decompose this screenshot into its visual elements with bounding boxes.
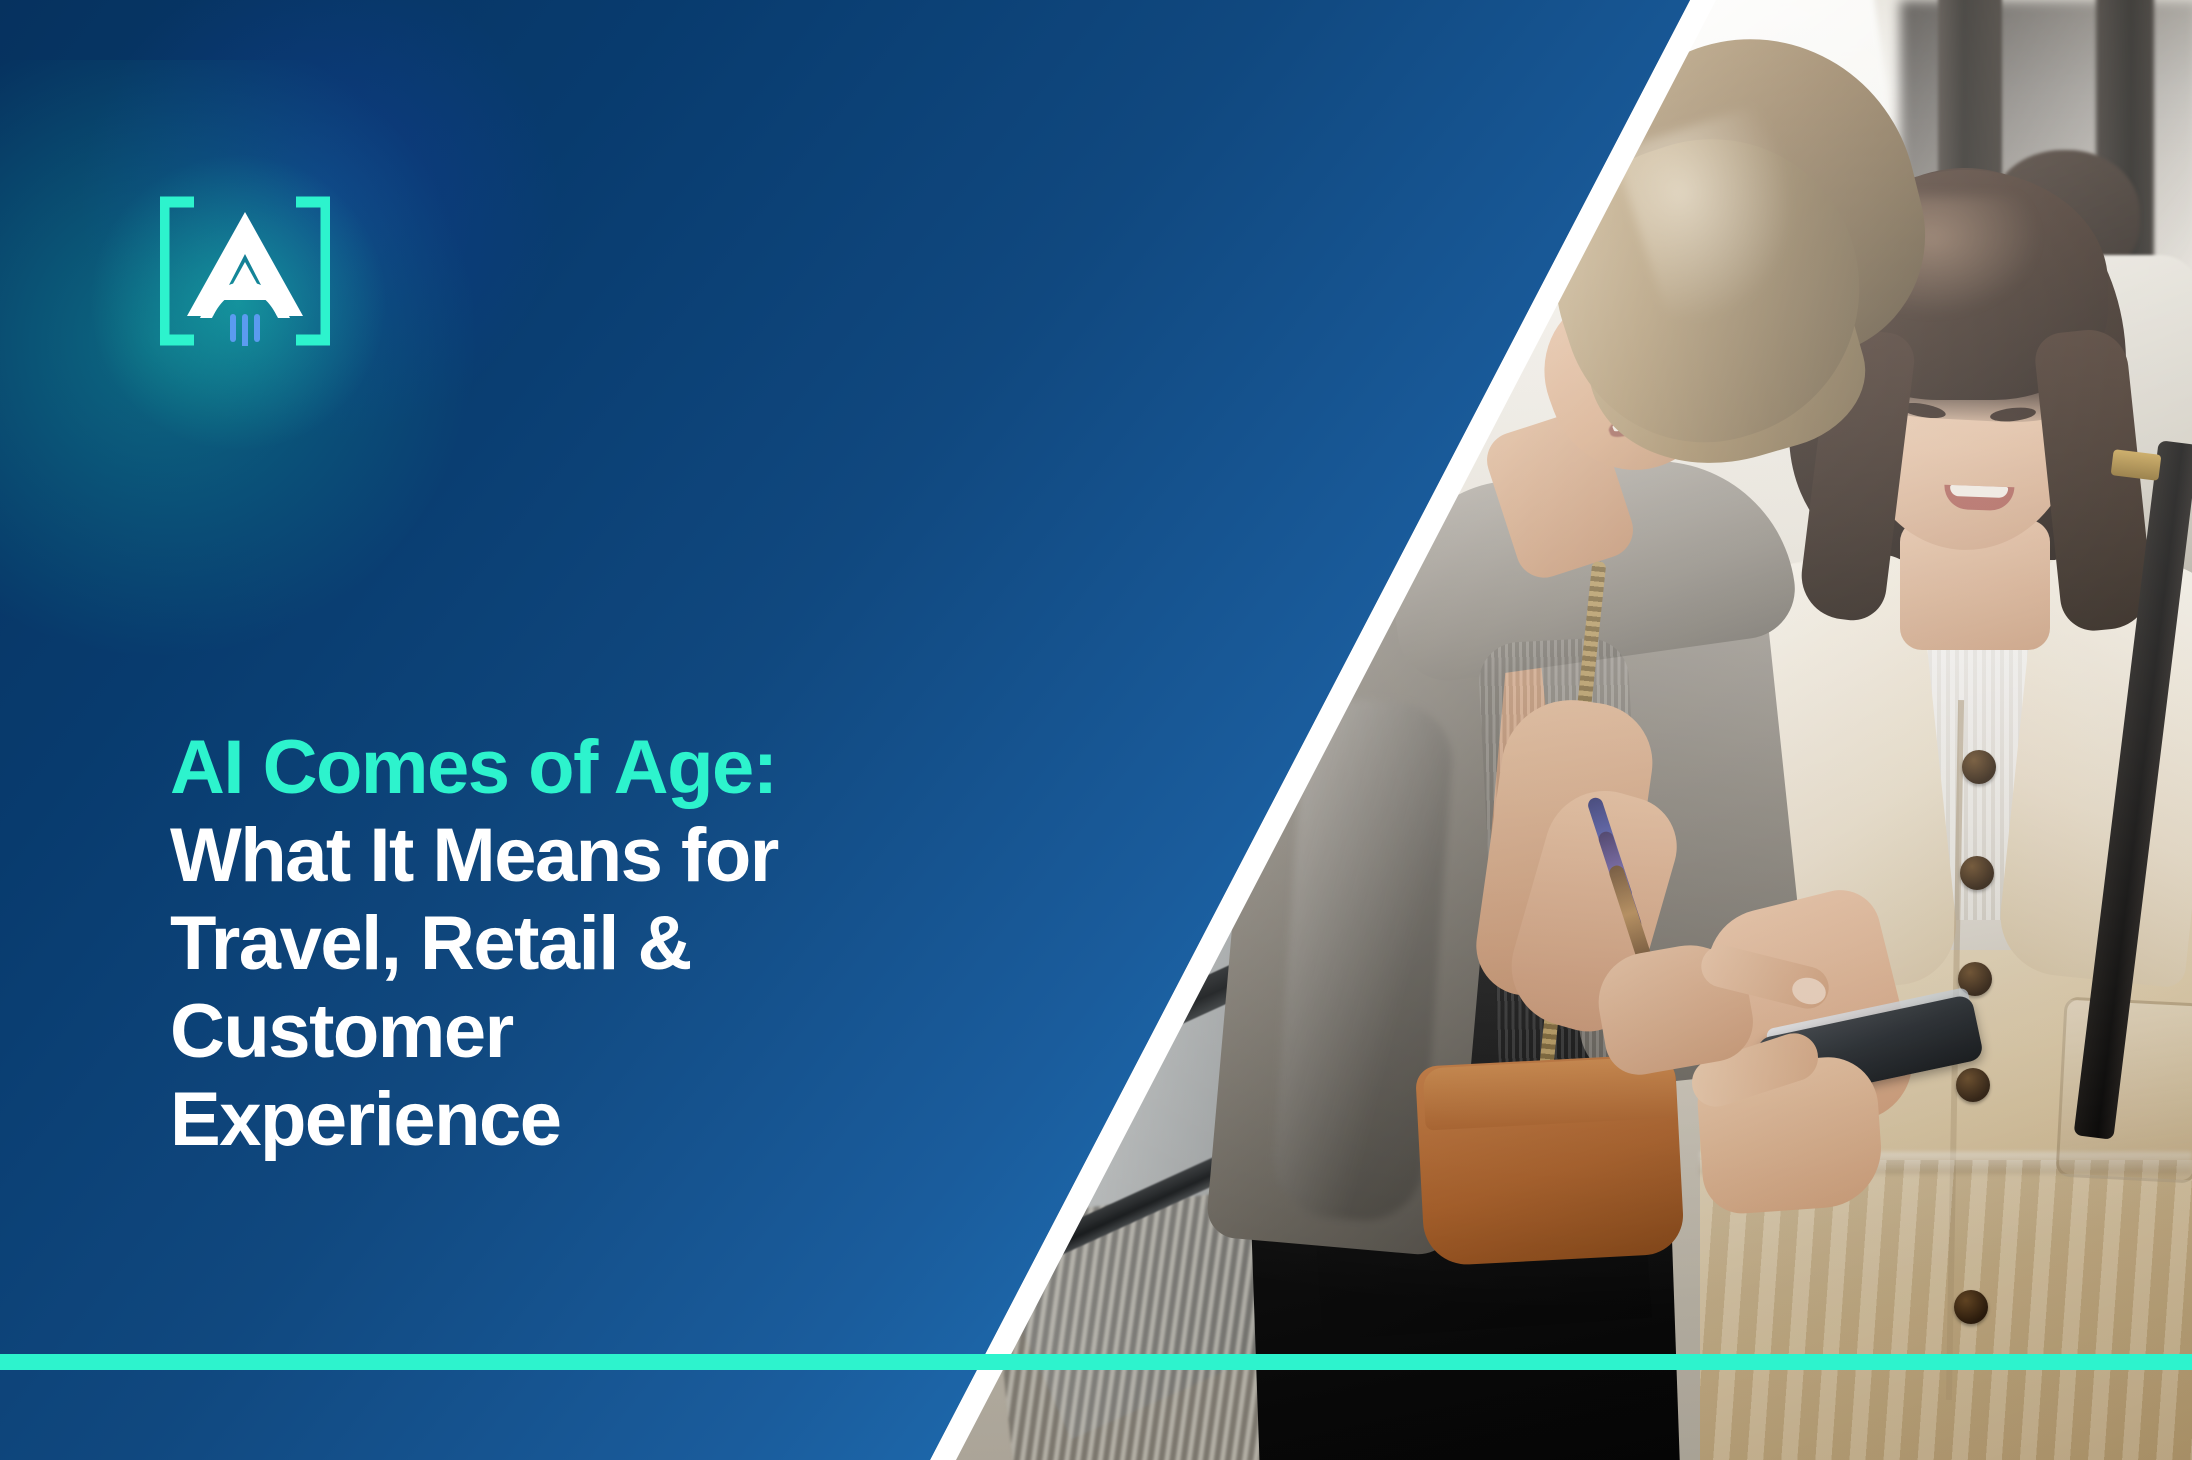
teal-accent-bar [0,1354,2192,1370]
brand-logo[interactable] [160,196,330,346]
person2-dress-button [1956,1068,1990,1102]
bracket-left-icon [164,202,194,340]
rocket-a-bracket-logo-icon [160,196,330,346]
title-line-3: Travel, Retail & [170,900,950,988]
title-line-1: AI Comes of Age: [170,724,950,812]
thruster-line-right-icon [254,314,260,342]
title-line-4: Customer [170,988,950,1076]
bracket-right-icon [296,202,326,340]
person2-dress-button [1960,856,1994,890]
thruster-line-center-icon [242,314,248,346]
person2-teeth [1950,485,2008,498]
title-line-5: Experience [170,1076,950,1164]
title-line-2: What It Means for [170,812,950,900]
thruster-line-left-icon [230,314,236,342]
blog-banner: AI Comes of Age: What It Means for Trave… [0,0,2192,1460]
person2-dress-button [1954,1290,1988,1324]
person2-dress-button [1962,750,1996,784]
page-title: AI Comes of Age: What It Means for Trave… [170,724,950,1164]
